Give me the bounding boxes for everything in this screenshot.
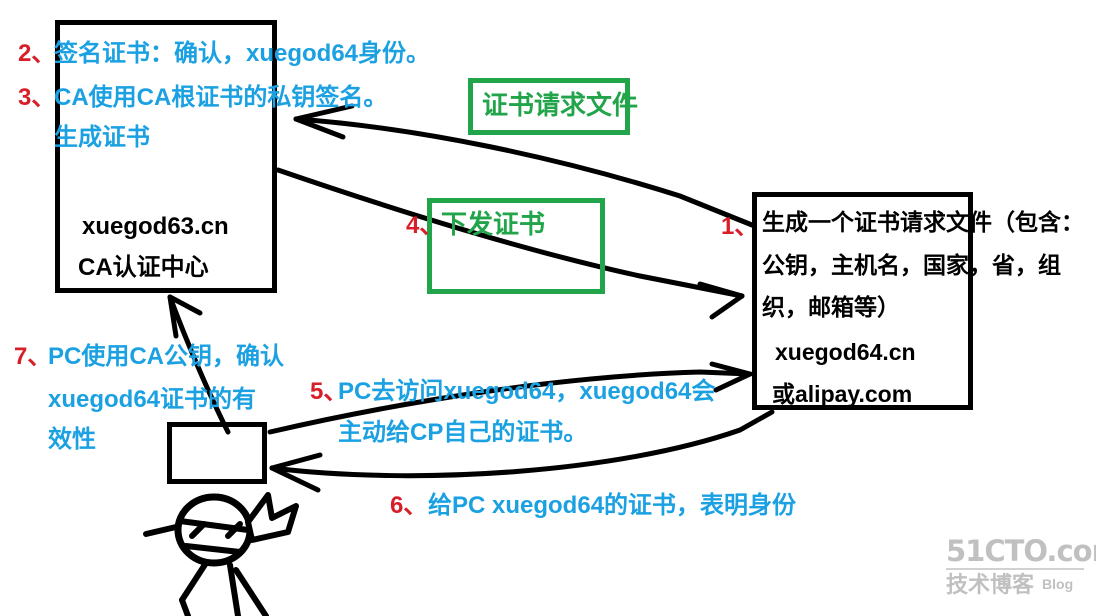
step-2-text: 签名证书：确认，xuegod64身份。 bbox=[54, 42, 430, 66]
watermark: 51CTO.com 技术博客Blog bbox=[946, 536, 1086, 610]
step-3-text-2: 生成证书 bbox=[54, 126, 150, 150]
person-icon bbox=[146, 495, 296, 616]
step-7-line-3: 效性 bbox=[48, 428, 96, 452]
step-7-line-2: xuegod64证书的有 bbox=[48, 388, 256, 412]
step-7-line-1: PC使用CA公钥，确认 bbox=[48, 345, 284, 369]
ca-name: CA认证中心 bbox=[78, 256, 209, 280]
server-line-2: 公钥，主机名，国家，省，组 bbox=[762, 254, 1061, 277]
step-3-number: 3、 bbox=[18, 86, 55, 110]
step-6-number: 6、 bbox=[390, 494, 427, 518]
watermark-site: 51CTO.com bbox=[946, 536, 1086, 566]
step-4-number: 4、 bbox=[406, 214, 443, 238]
step-1-number: 1、 bbox=[721, 215, 758, 239]
server-line-3: 织，邮箱等） bbox=[762, 296, 900, 319]
step-5-line-2: 主动给CP自己的证书。 bbox=[338, 421, 587, 445]
server-line-1: 生成一个证书请求文件（包含： bbox=[762, 211, 1084, 234]
cert-request-file-label: 证书请求文件 bbox=[482, 92, 638, 118]
step-3-text: CA使用CA根证书的私钥签名。 bbox=[54, 86, 387, 110]
server-line-5: 或alipay.com bbox=[772, 383, 912, 406]
server-line-4: xuegod64.cn bbox=[775, 341, 916, 364]
watermark-divider bbox=[946, 568, 1084, 570]
diagram-canvas: 2、 签名证书：确认，xuegod64身份。 3、 CA使用CA根证书的私钥签名… bbox=[0, 0, 1096, 616]
issue-cert-label: 下发证书 bbox=[441, 211, 545, 237]
step-6-line-1: 给PC xuegod64的证书，表明身份 bbox=[428, 494, 796, 518]
step-5-line-1: PC去访问xuegod64，xuegod64会 bbox=[338, 380, 715, 404]
ca-domain: xuegod63.cn bbox=[82, 215, 229, 239]
step-2-number: 2、 bbox=[18, 42, 55, 66]
watermark-subtitle: 技术博客 bbox=[946, 572, 1034, 597]
watermark-blog: Blog bbox=[1042, 576, 1073, 592]
step-7-number: 7、 bbox=[14, 345, 51, 369]
monitor-icon bbox=[167, 422, 267, 484]
watermark-bottom-row: 技术博客Blog bbox=[946, 573, 1086, 597]
